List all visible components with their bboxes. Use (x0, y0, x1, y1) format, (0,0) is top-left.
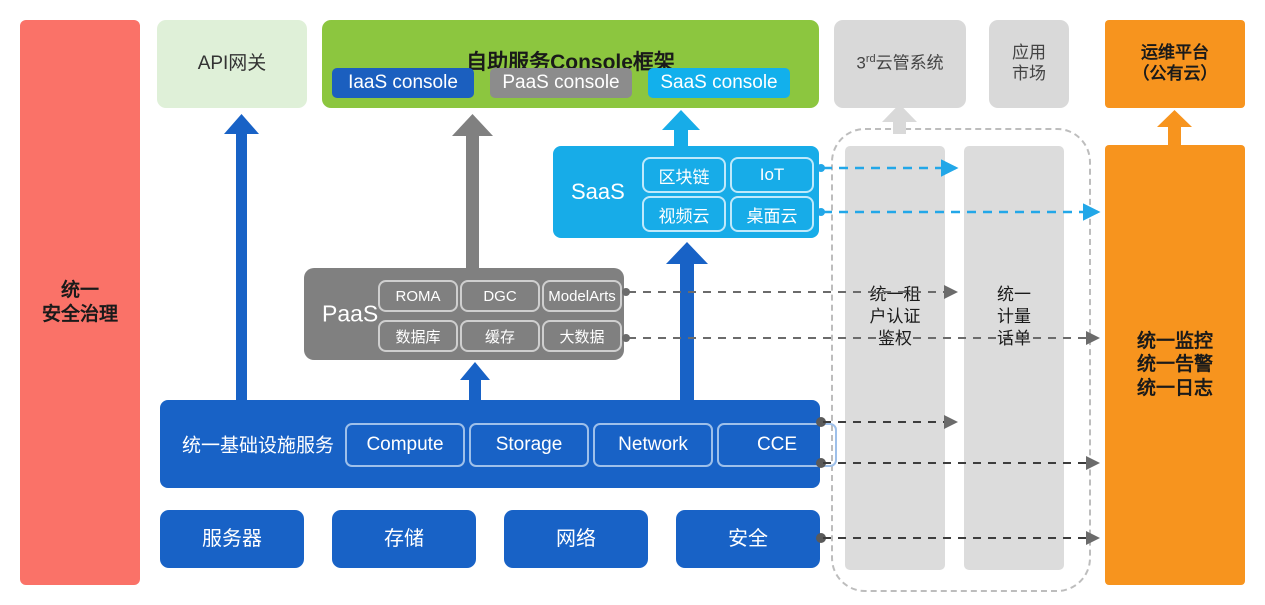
chip-saas-console[interactable]: SaaS console (648, 68, 790, 98)
metering-line2: 计量 (964, 306, 1064, 328)
base-resource-storage[interactable]: 存储 (332, 510, 476, 568)
saas-item-iot[interactable]: IoT (730, 157, 814, 193)
chip-iaas-console-label: IaaS console (348, 72, 458, 94)
security-panel-line2: 安全治理 (42, 303, 118, 326)
chip-iaas-console[interactable]: IaaS console (332, 68, 474, 98)
saas-item-desktop-cloud-label: 桌面云 (747, 202, 798, 227)
api-gateway-box[interactable]: API网关 (157, 20, 307, 108)
auth-line3: 鉴权 (845, 328, 945, 350)
infra-item-compute[interactable]: Compute (345, 423, 465, 467)
paas-item-dgc-label: DGC (483, 288, 516, 305)
base-resource-server[interactable]: 服务器 (160, 510, 304, 568)
paas-item-bigdata[interactable]: 大数据 (542, 320, 622, 352)
paas-item-dgc[interactable]: DGC (460, 280, 540, 312)
app-market-box[interactable]: 应用 市场 (989, 20, 1069, 108)
monitoring-line2: 统一告警 (1137, 353, 1213, 376)
paas-item-modelarts-label: ModelArts (548, 288, 616, 305)
third-party-prefix: 3 (856, 54, 865, 73)
saas-layer: SaaS 区块链 IoT 视频云 桌面云 (553, 146, 819, 238)
arrow-saas-to-saas-console (662, 110, 700, 148)
paas-item-roma-label: ROMA (396, 288, 441, 305)
architecture-diagram: 统一 安全治理 API网关 自助服务Console框架 IaaS console… (0, 0, 1265, 605)
infra-item-cce[interactable]: CCE (717, 423, 837, 467)
unified-metering-column: 统一 计量 话单 (964, 146, 1064, 570)
infra-item-cce-label: CCE (757, 434, 797, 456)
saas-item-blockchain-label: 区块链 (659, 163, 710, 188)
arrow-infra-to-saas (666, 242, 708, 400)
paas-layer: PaaS ROMA DGC ModelArts 数据库 缓存 大数据 (304, 268, 624, 360)
app-market-line1: 应用 (1012, 43, 1046, 64)
unified-monitoring-panel: 统一监控 统一告警 统一日志 (1105, 145, 1245, 585)
base-resource-server-label: 服务器 (202, 527, 262, 551)
app-market-line2: 市场 (1012, 64, 1046, 85)
auth-line1: 统一租 (845, 284, 945, 306)
unified-tenant-auth-column: 统一租 户认证 鉴权 (845, 146, 945, 570)
saas-item-blockchain[interactable]: 区块链 (642, 157, 726, 193)
metering-line1: 统一 (964, 284, 1064, 306)
paas-item-bigdata-label: 大数据 (559, 326, 604, 347)
infra-item-network-label: Network (618, 434, 688, 456)
third-party-suffix: 云管系统 (876, 54, 944, 73)
saas-item-video-cloud-label: 视频云 (659, 202, 710, 227)
infra-item-compute-label: Compute (366, 434, 443, 456)
arrow-infra-to-paas (460, 362, 490, 400)
arrow-monitoring-to-ops-platform (1157, 110, 1192, 147)
paas-item-modelarts[interactable]: ModelArts (542, 280, 622, 312)
base-resource-network[interactable]: 网络 (504, 510, 648, 568)
arrow-infra-to-api-gateway (224, 114, 259, 400)
unified-tenant-auth-label: 统一租 户认证 鉴权 (845, 284, 945, 350)
auth-line2: 户认证 (845, 306, 945, 328)
paas-item-roma[interactable]: ROMA (378, 280, 458, 312)
paas-layer-label: PaaS (322, 301, 378, 328)
third-party-cloud-management-box[interactable]: 3rd云管系统 (834, 20, 966, 108)
saas-item-iot-label: IoT (760, 165, 785, 185)
paas-item-database-label: 数据库 (395, 326, 440, 347)
infrastructure-layer-label: 统一基础设施服务 (182, 431, 334, 458)
ops-platform-line1: 运维平台 (1133, 43, 1218, 64)
metering-line3: 话单 (964, 328, 1064, 350)
paas-item-cache[interactable]: 缓存 (460, 320, 540, 352)
unified-security-governance-panel: 统一 安全治理 (20, 20, 140, 585)
base-resource-security[interactable]: 安全 (676, 510, 820, 568)
third-party-sup: rd (866, 53, 876, 65)
security-panel-line1: 统一 (42, 279, 118, 302)
api-gateway-label: API网关 (198, 52, 267, 75)
chip-paas-console-label: PaaS console (502, 72, 619, 94)
monitoring-line1: 统一监控 (1137, 330, 1213, 353)
base-resource-storage-label: 存储 (384, 527, 424, 551)
saas-item-desktop-cloud[interactable]: 桌面云 (730, 196, 814, 232)
arrow-paas-to-console (452, 114, 493, 268)
third-party-cloud-management-label: 3rd云管系统 (856, 53, 943, 74)
chip-saas-console-label: SaaS console (660, 72, 777, 94)
self-service-console-framework: 自助服务Console框架 IaaS console PaaS console … (322, 20, 819, 108)
ops-platform-line2: （公有云） (1133, 64, 1218, 85)
infra-item-network[interactable]: Network (593, 423, 713, 467)
unified-infrastructure-service-layer: 统一基础设施服务 Compute Storage Network CCE (160, 400, 820, 488)
paas-item-database[interactable]: 数据库 (378, 320, 458, 352)
base-resource-security-label: 安全 (728, 527, 768, 551)
base-resource-network-label: 网络 (556, 527, 596, 551)
saas-layer-label: SaaS (571, 179, 625, 205)
unified-metering-label: 统一 计量 话单 (964, 284, 1064, 350)
saas-item-video-cloud[interactable]: 视频云 (642, 196, 726, 232)
paas-item-cache-label: 缓存 (485, 326, 515, 347)
infra-item-storage[interactable]: Storage (469, 423, 589, 467)
ops-platform-box[interactable]: 运维平台 （公有云） (1105, 20, 1245, 108)
chip-paas-console[interactable]: PaaS console (490, 68, 632, 98)
monitoring-line3: 统一日志 (1137, 377, 1213, 400)
infra-item-storage-label: Storage (496, 434, 563, 456)
